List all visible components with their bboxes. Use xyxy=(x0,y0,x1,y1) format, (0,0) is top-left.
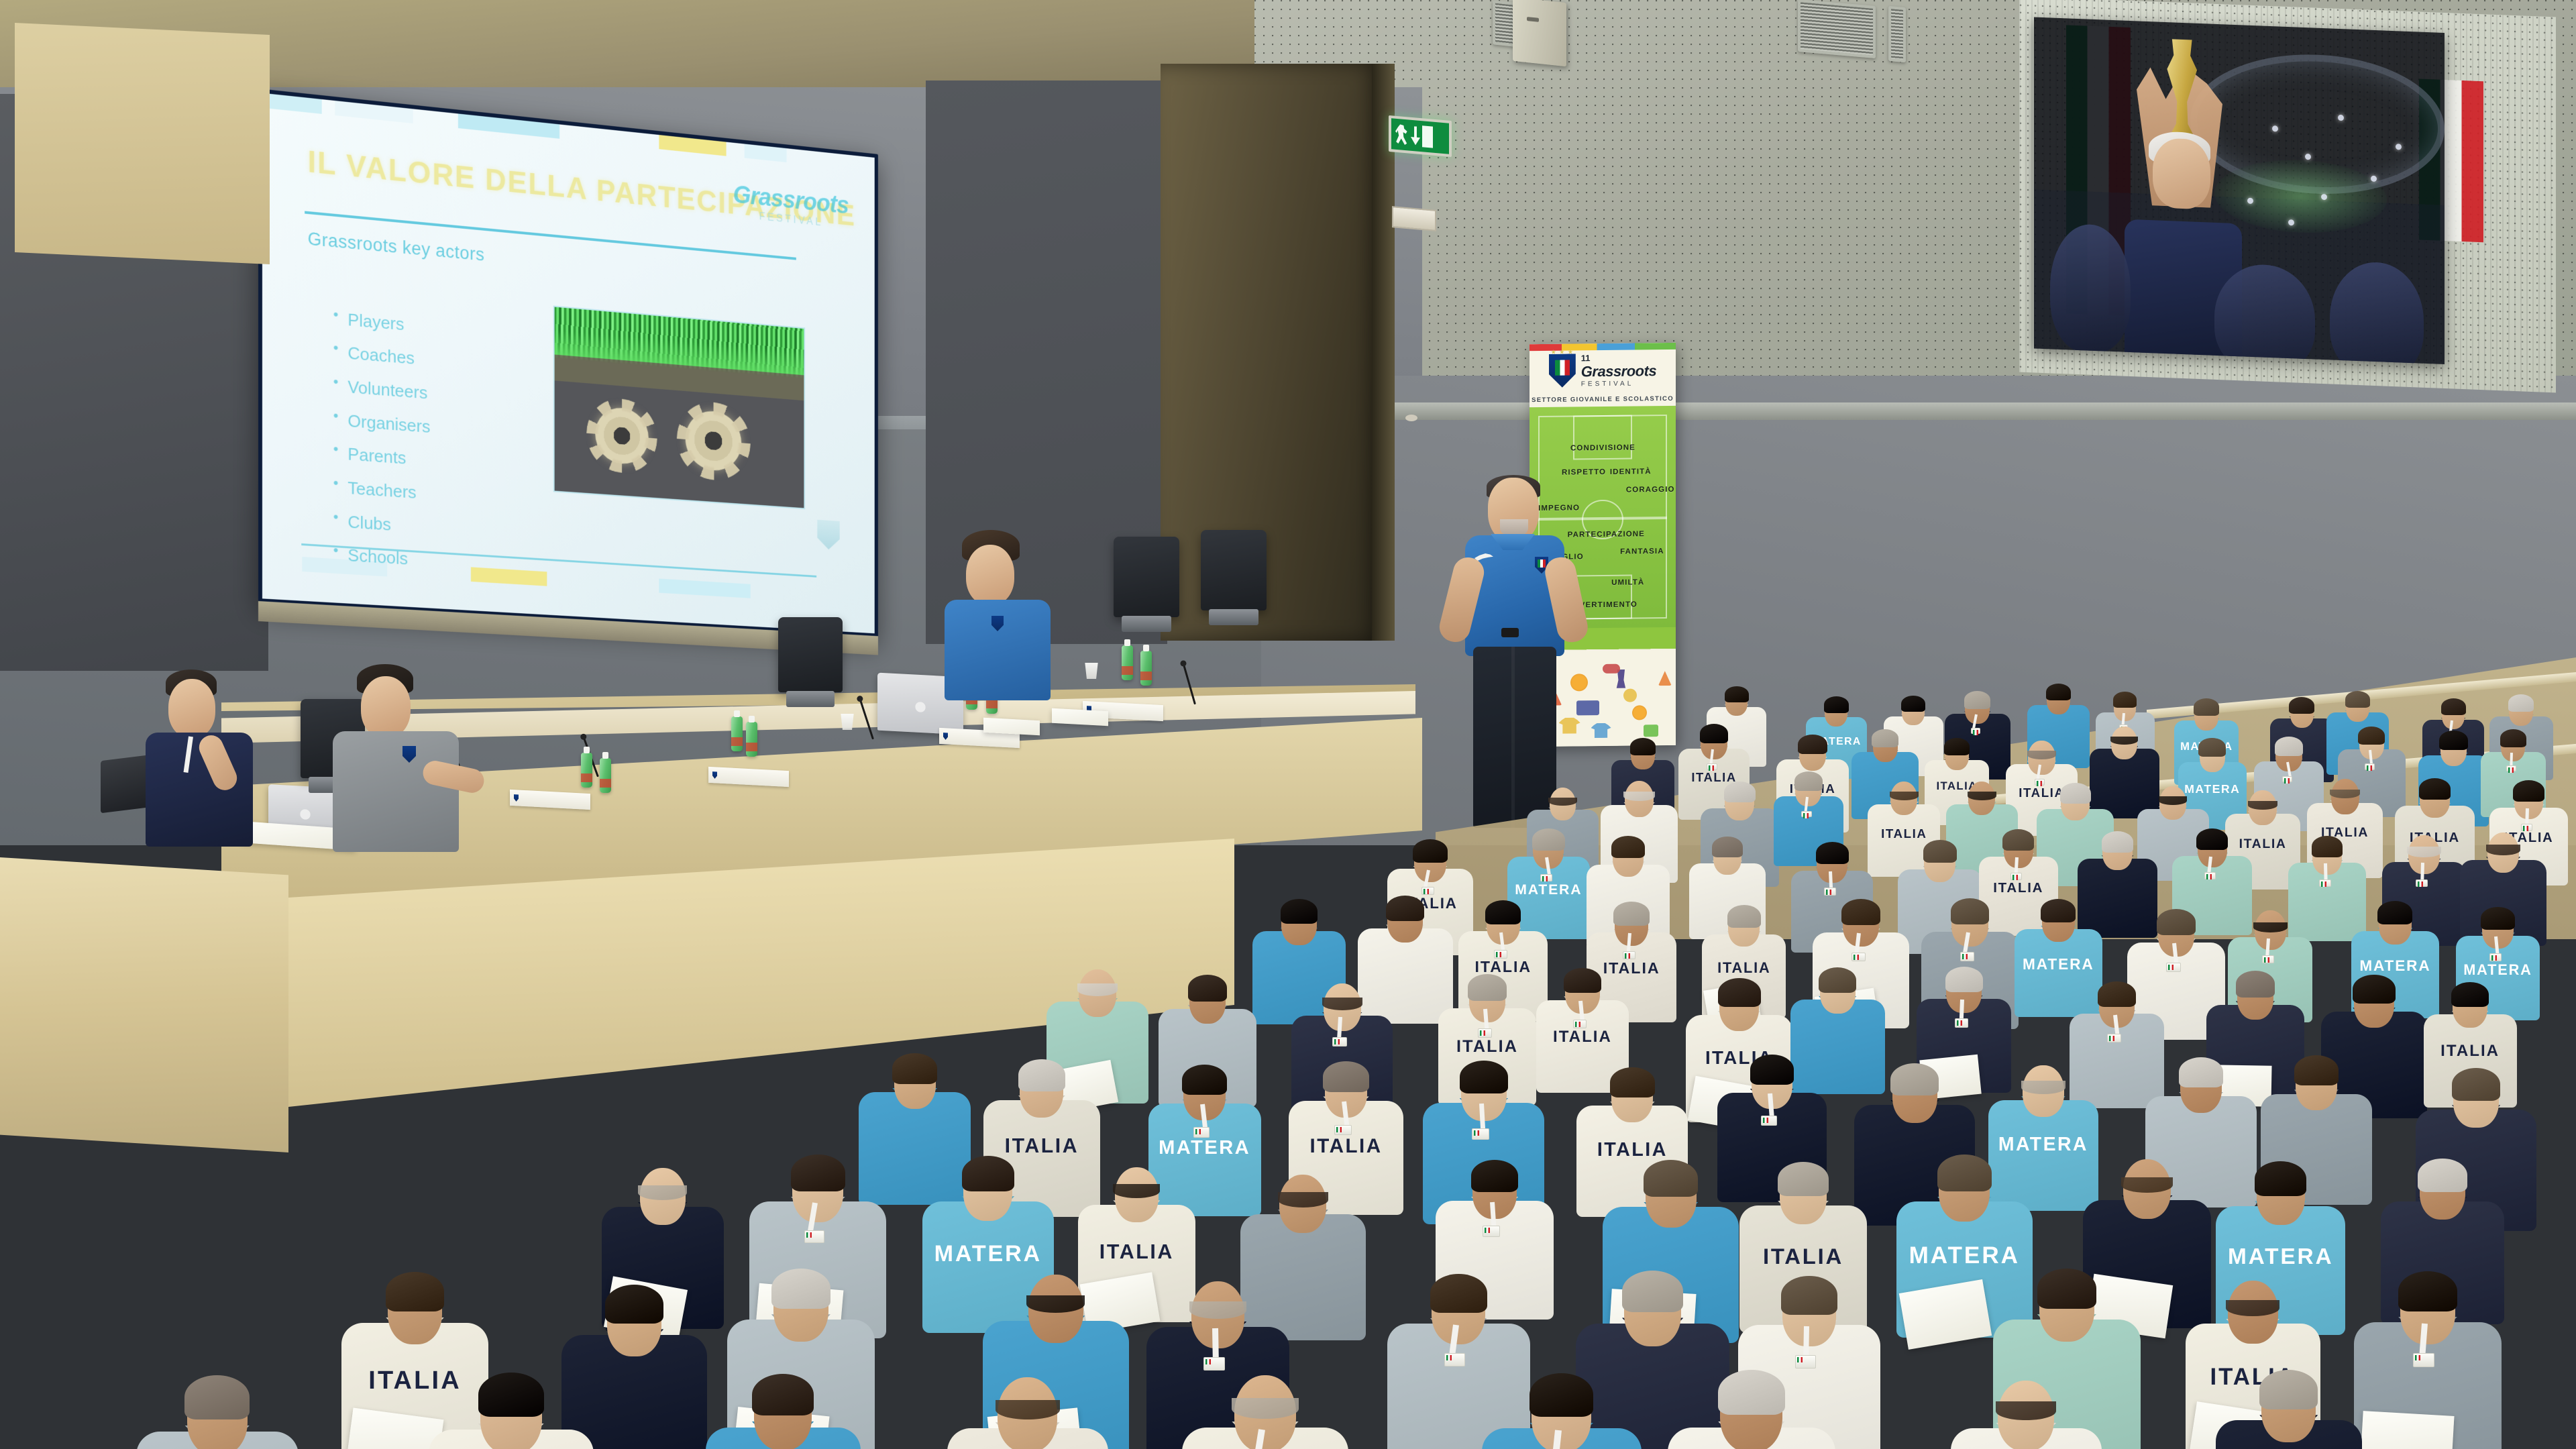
hvac-vent-right xyxy=(1798,0,1876,58)
badge xyxy=(2282,776,2292,783)
banner-edition-number: 11 xyxy=(1581,352,1656,363)
audience-member xyxy=(1482,1371,1642,1449)
hair xyxy=(2345,691,2370,708)
hair xyxy=(2194,698,2219,716)
hair xyxy=(1182,1065,1227,1095)
hair xyxy=(1611,836,1645,859)
water-bottle[interactable] xyxy=(731,716,743,751)
whistle-icon xyxy=(1603,664,1620,674)
emergency-exit-icon xyxy=(1389,115,1452,157)
hair xyxy=(1750,1055,1794,1084)
hair xyxy=(2513,780,2544,801)
water-bottle[interactable] xyxy=(600,758,611,793)
hair xyxy=(1386,896,1424,921)
banner-logo: 11 Grassroots FESTIVAL xyxy=(1581,352,1656,388)
panel-chair[interactable] xyxy=(778,617,843,692)
crowd-figure xyxy=(2050,223,2131,354)
banner-value-word: UMILTÀ xyxy=(1611,579,1644,588)
hair xyxy=(2060,783,2091,804)
hair xyxy=(2500,729,2526,747)
badge xyxy=(2506,765,2516,771)
panelist-left xyxy=(131,669,278,844)
shirt-text: MATERA xyxy=(2351,957,2438,975)
hair xyxy=(2236,971,2275,997)
badge xyxy=(1193,1127,1210,1138)
world-cup-photo xyxy=(2034,17,2445,364)
hair xyxy=(996,1400,1060,1419)
hair xyxy=(1964,691,1990,709)
hair xyxy=(1778,1162,1829,1196)
hair xyxy=(1529,1373,1593,1416)
hair xyxy=(771,1269,830,1309)
hair xyxy=(2407,847,2440,857)
figc-crest-icon xyxy=(712,771,717,779)
head xyxy=(361,676,411,738)
audience-member xyxy=(706,1371,861,1449)
hair xyxy=(2418,1159,2467,1192)
handout[interactable] xyxy=(2360,1411,2455,1449)
cone-icon xyxy=(1658,671,1672,686)
audience-member xyxy=(2354,1269,2502,1449)
hair xyxy=(1923,840,1957,863)
banner-value-word: CORAGGIO xyxy=(1626,486,1675,494)
hair xyxy=(1700,724,1729,743)
hair xyxy=(2294,1055,2339,1085)
hair xyxy=(1485,900,1521,924)
badge xyxy=(1478,1028,1492,1038)
shirt-text: ITALIA xyxy=(1078,1240,1195,1264)
hair xyxy=(1189,1301,1246,1319)
hvac-vent-far-right xyxy=(1888,6,1906,62)
audience-member: ITALIA xyxy=(429,1369,594,1449)
badge xyxy=(1707,763,1717,770)
hair xyxy=(1532,828,1565,851)
hair xyxy=(1724,782,1756,803)
hair xyxy=(2289,697,2314,714)
badge xyxy=(1494,950,1507,958)
stage-curtain xyxy=(1161,64,1382,641)
audience-member: ITALIA xyxy=(947,1370,1108,1449)
torso xyxy=(945,600,1051,700)
medal-icon xyxy=(1623,688,1637,702)
hair xyxy=(1278,1192,1328,1207)
badge xyxy=(1540,874,1552,881)
figc-crest-icon xyxy=(1549,354,1576,387)
head xyxy=(966,545,1014,605)
panelist-laptop-operator xyxy=(939,530,1073,691)
head xyxy=(168,679,215,738)
hair xyxy=(1413,839,1448,863)
torso xyxy=(333,731,459,852)
shirt-text: MATERA xyxy=(2456,961,2540,979)
hair xyxy=(1281,899,1318,924)
badge xyxy=(2204,872,2216,879)
badge xyxy=(2365,763,2375,769)
badge xyxy=(1971,728,1980,734)
hair xyxy=(386,1272,445,1311)
coach-head xyxy=(2153,138,2210,209)
audience-member xyxy=(136,1373,299,1449)
badge xyxy=(1824,888,1836,895)
hair xyxy=(2179,1057,2223,1087)
badge xyxy=(1472,1128,1490,1140)
empty-chair[interactable] xyxy=(1114,537,1179,617)
hair xyxy=(1644,1160,1698,1197)
panelist-second xyxy=(322,664,483,852)
podium-inset xyxy=(15,23,270,264)
programme-booklet[interactable] xyxy=(1052,708,1108,726)
water-bottle[interactable] xyxy=(1140,651,1152,686)
badge xyxy=(2107,1034,2121,1042)
badge xyxy=(1960,952,1974,961)
hair xyxy=(1430,1274,1487,1313)
hair xyxy=(1718,978,1761,1007)
hair xyxy=(791,1155,846,1191)
hair xyxy=(2102,831,2133,853)
hair xyxy=(2113,692,2137,708)
smoke-detector-icon xyxy=(1405,415,1417,421)
hair xyxy=(1841,899,1880,925)
hair xyxy=(2098,981,2135,1007)
hair xyxy=(1630,738,1656,755)
badge xyxy=(1851,953,1866,961)
hair xyxy=(2046,684,2072,700)
hair xyxy=(2037,1269,2096,1309)
hair xyxy=(1610,1067,1654,1097)
down-arrow-icon xyxy=(1411,126,1420,146)
shirt-text: MATERA xyxy=(2216,1244,2345,1270)
hair xyxy=(1951,898,1990,924)
hair xyxy=(605,1285,663,1324)
audience-member xyxy=(2216,1367,2362,1449)
hair xyxy=(1816,842,1849,864)
hair xyxy=(1232,1398,1298,1418)
hair xyxy=(2452,1068,2500,1101)
badge xyxy=(1623,951,1636,960)
hair xyxy=(638,1185,687,1200)
hair xyxy=(2439,731,2467,750)
shirt-text: MATERA xyxy=(922,1241,1054,1267)
shirt-text: MATERA xyxy=(1148,1137,1261,1159)
hair xyxy=(2312,836,2343,857)
programme-booklet[interactable] xyxy=(983,718,1040,735)
lanyard xyxy=(1479,1104,1485,1131)
flag-icon xyxy=(1644,724,1658,737)
water-bottle[interactable] xyxy=(581,753,592,788)
badge xyxy=(1332,1037,1347,1046)
wall-photograph xyxy=(2019,0,2556,392)
banner-logo-word: Grassroots xyxy=(1581,362,1656,380)
figc-crest-icon xyxy=(943,733,948,740)
badge xyxy=(1483,1226,1500,1236)
slide-bullet-list: Players Coaches Volunteers Organisers Pa… xyxy=(333,301,535,584)
hair xyxy=(1471,1160,1519,1192)
hair xyxy=(2226,1300,2279,1316)
hair xyxy=(1781,1276,1838,1314)
projection-screen-frame: IL VALORE DELLA PARTECIPAZIONE Grassroot… xyxy=(258,89,878,640)
banner-header: ★ ★ ★ ★ 11 Grassroots FESTIVAL xyxy=(1529,352,1676,388)
hair xyxy=(1077,983,1118,996)
fire-alarm-box[interactable] xyxy=(1392,206,1436,231)
football-icon xyxy=(1632,706,1647,720)
hair xyxy=(2196,828,2228,850)
shirt-text: MATERA xyxy=(1507,881,1590,898)
hair xyxy=(1890,1063,1939,1096)
banner-value-word: RISPETTO xyxy=(1562,468,1606,477)
hair xyxy=(962,1156,1015,1191)
hair xyxy=(1890,792,1919,800)
hair xyxy=(892,1053,937,1083)
hair xyxy=(1725,686,1749,702)
hair xyxy=(1018,1059,1065,1091)
banner-value-word: FANTASIA xyxy=(1620,547,1664,556)
hair xyxy=(2198,738,2226,757)
hair xyxy=(1901,696,1925,712)
slide-grass-roots-image xyxy=(553,305,805,509)
banner-value-word: CONDIVISIONE xyxy=(1570,444,1635,453)
hair xyxy=(1727,905,1761,928)
hair xyxy=(2419,778,2451,800)
hair xyxy=(2451,982,2489,1008)
lanyard xyxy=(1212,1328,1218,1360)
hair xyxy=(1323,1061,1368,1092)
badge xyxy=(2416,879,2428,888)
presentation-clicker[interactable] xyxy=(1501,628,1519,637)
hair xyxy=(2002,829,2034,851)
hair xyxy=(1794,771,1823,790)
badge xyxy=(2413,1353,2434,1366)
audience-member: ITALIA xyxy=(1182,1367,1348,1449)
banner-value-word: IDENTITÀ xyxy=(1610,468,1652,477)
water-bottle[interactable] xyxy=(746,722,757,757)
door-bar-icon xyxy=(1422,125,1433,148)
empty-chair[interactable] xyxy=(1201,530,1267,610)
hair xyxy=(1460,1061,1509,1093)
hair xyxy=(1996,1401,2056,1419)
hair xyxy=(1564,968,1601,994)
root-gear-icon xyxy=(595,406,648,466)
hair xyxy=(1623,792,1654,801)
running-man-icon xyxy=(1395,124,1409,146)
hair xyxy=(2259,1370,2318,1409)
hair xyxy=(2481,907,2514,930)
hair xyxy=(1798,735,1827,754)
conference-hall-scene: IL VALORE DELLA PARTECIPAZIONE Grassroot… xyxy=(0,0,2576,1449)
hair xyxy=(2508,694,2534,712)
audience-member xyxy=(1951,1373,2102,1449)
badge xyxy=(2319,879,2330,887)
badge xyxy=(1955,1018,1969,1027)
ceiling-speaker-icon xyxy=(1513,0,1566,66)
banner-tagline: SETTORE GIOVANILE E SCOLASTICO xyxy=(1529,395,1676,404)
hair xyxy=(2398,1271,2457,1311)
hair xyxy=(2157,909,2196,935)
hair xyxy=(1613,902,1650,926)
hair xyxy=(1937,1155,1992,1191)
crowd-figure xyxy=(2330,260,2424,364)
hair xyxy=(1824,696,1849,713)
hair xyxy=(1712,837,1742,857)
hair xyxy=(478,1373,545,1417)
badge xyxy=(1761,1116,1777,1126)
hair xyxy=(2275,737,2303,755)
hair xyxy=(1718,1370,1785,1415)
hair xyxy=(2021,1081,2065,1094)
hair xyxy=(1944,738,1970,755)
hair xyxy=(1322,998,1362,1010)
badge xyxy=(2262,955,2275,963)
badge xyxy=(1334,1125,1351,1136)
projection-screen: IL VALORE DELLA PARTECIPAZIONE Grassroot… xyxy=(262,93,875,634)
figc-crest-icon xyxy=(514,794,519,802)
lanyard xyxy=(2420,863,2424,882)
shirt-text: ITALIA xyxy=(1289,1135,1403,1158)
hair xyxy=(2041,899,2076,922)
hair xyxy=(2377,901,2412,924)
hair xyxy=(1468,974,1507,1000)
shirt-text: MATERA xyxy=(2015,955,2102,973)
hair xyxy=(2255,1161,2306,1196)
hair xyxy=(1872,729,1898,747)
hair xyxy=(1188,975,1228,1002)
shirt-text: ITALIA xyxy=(1536,1028,1629,1046)
hair xyxy=(2121,1177,2173,1193)
badge xyxy=(1573,1020,1587,1028)
shirt-text: MATERA xyxy=(1896,1242,2033,1269)
banner-logo-sub: FESTIVAL xyxy=(1581,380,1656,388)
badge xyxy=(804,1230,824,1243)
hair xyxy=(2358,727,2385,745)
shirt-text: ITALIA xyxy=(1438,1037,1536,1057)
hair xyxy=(2441,698,2466,715)
crowd-figure xyxy=(2214,262,2315,364)
hair xyxy=(752,1374,814,1416)
hair xyxy=(184,1375,250,1419)
badge xyxy=(1801,811,1811,818)
hair xyxy=(1945,967,1983,992)
hair xyxy=(2486,845,2520,855)
water-bottle[interactable] xyxy=(1122,645,1133,680)
wall-divider xyxy=(1261,402,2576,420)
hair xyxy=(1622,1271,1684,1312)
hair xyxy=(2159,796,2188,805)
hair xyxy=(2353,975,2396,1004)
badge xyxy=(1444,1353,1465,1366)
badge xyxy=(2166,963,2180,972)
lanyard xyxy=(1803,1326,1809,1358)
badge xyxy=(2489,953,2502,961)
badge xyxy=(2010,873,2022,880)
hair xyxy=(1819,967,1856,993)
shirt-text: ITALIA xyxy=(1702,959,1786,977)
podium xyxy=(0,857,288,1152)
shirt-text: ITALIA xyxy=(2424,1042,2517,1061)
root-gear-icon xyxy=(686,409,741,472)
audience-member xyxy=(1668,1366,1835,1449)
shirt-text: ITALIA xyxy=(1739,1244,1867,1269)
shirt-text: ITALIA xyxy=(1979,880,2058,896)
